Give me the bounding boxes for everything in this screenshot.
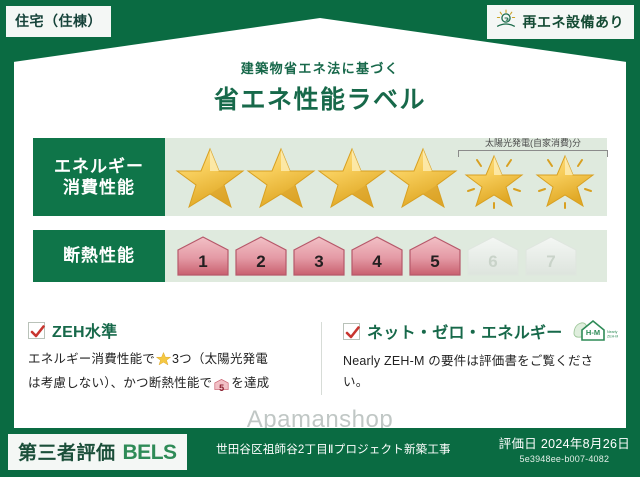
net-zero-energy-body: Nearly ZEH-M の要件は評価書をご覧ください。 [343,351,600,392]
insulation-level-7-number: 7 [523,252,579,272]
title-block: 建築物省エネ法に基づく 省エネ性能ラベル [0,58,640,116]
insulation-level-7: 7 [523,234,579,278]
svg-text:ZEH-M: ZEH-M [607,335,618,339]
label-root: 住宅（住棟） 再エネ設備あり 建築物省エネ法に基づく 省エネ性能ラベル [0,0,640,477]
star-6-solar [530,144,600,210]
insulation-level-6-number: 6 [465,252,521,272]
net-zero-energy-title: ネット・ゼロ・エネルギー [367,319,563,343]
star-rating [165,144,600,210]
inline-house-number: 5 [214,381,229,396]
star-1 [175,144,245,210]
renewable-badge-label: 再エネ設備あり [523,12,625,32]
bels-certification-badge: 第三者評価 BELS [8,434,187,470]
insulation-level-3: 3 [291,234,347,278]
star-3 [317,144,387,210]
bels-en-label: BELS [123,441,177,465]
svg-text:H-M: H-M [586,328,600,337]
bels-jp-label: 第三者評価 [18,438,116,465]
star-5-solar [459,144,529,210]
energy-label-line2: 消費性能 [63,177,135,198]
check-icon [28,322,45,339]
insulation-level-6: 6 [465,234,521,278]
zeh-standard-panel: ZEH水準 エネルギー消費性能で3つ（太陽光発電 は考慮しない）、かつ断熱性能で… [28,318,321,397]
insulation-level-4: 4 [349,234,405,278]
inline-house-icon: 5 [214,377,229,398]
evaluation-date: 評価日 2024年8月26日 [499,433,630,452]
insulation-level-5-number: 5 [407,252,463,272]
project-name: 世田谷区祖師谷2丁目Ⅱプロジェクト新築工事 [216,441,451,457]
energy-performance-row: エネルギー 消費性能 [33,138,607,216]
title-subtitle: 建築物省エネ法に基づく [0,58,640,77]
evaluation-info: 評価日 2024年8月26日 5e3948ee-b007-4082 [499,433,630,464]
net-zero-energy-panel: ネット・ゼロ・エネルギー H-M Nearly ZEH-M Nearly ZEH… [321,318,614,397]
svg-text:Nearly: Nearly [607,330,618,334]
zeh-body-part2: は考慮しない）、かつ断熱性能で [28,376,212,390]
star-2 [246,144,316,210]
category-tag: 住宅（住棟） [6,6,111,37]
evaluation-id: 5e3948ee-b007-4082 [499,454,630,464]
energy-performance-label: エネルギー 消費性能 [33,138,165,216]
insulation-level-2-number: 2 [233,252,289,272]
insulation-level-3-number: 3 [291,252,347,272]
rating-rows: エネルギー 消費性能 [33,138,607,282]
renewable-energy-badge: 再エネ設備あり [487,5,635,39]
zeh-standard-title: ZEH水準 [52,318,118,342]
zeh-body-star-text: 3つ（太陽光発電 [172,352,268,366]
insulation-performance-label: 断熱性能 [33,230,165,282]
footer: 第三者評価 BELS 世田谷区祖師谷2丁目Ⅱプロジェクト新築工事 評価日 202… [0,428,640,477]
insulation-scale-area: 1 2 3 [165,230,607,282]
nearly-zeh-m-logo-icon: H-M Nearly ZEH-M [572,318,618,344]
insulation-level-2: 2 [233,234,289,278]
insulation-performance-row: 断熱性能 [33,230,607,282]
insulation-scale: 1 2 3 [165,234,579,278]
inline-star-icon [156,355,171,369]
zeh-body-part3: を達成 [231,376,269,390]
page-title: 省エネ性能ラベル [0,80,640,116]
star-4 [388,144,458,210]
insulation-level-1-number: 1 [175,252,231,272]
energy-label-line1: エネルギー [54,156,144,177]
zeh-body-part1: エネルギー消費性能で [28,352,155,366]
zeh-standard-heading: ZEH水準 [28,318,307,342]
check-icon [343,323,360,340]
insulation-level-5: 5 [407,234,463,278]
insulation-label-text: 断熱性能 [63,245,135,266]
insulation-level-4-number: 4 [349,252,405,272]
energy-stars-area: 太陽光発電(自家消費)分 [165,138,607,216]
net-zero-energy-heading: ネット・ゼロ・エネルギー H-M Nearly ZEH-M [343,318,600,344]
sun-icon [495,9,517,34]
insulation-level-1: 1 [175,234,231,278]
bottom-panels: ZEH水準 エネルギー消費性能で3つ（太陽光発電 は考慮しない）、かつ断熱性能で… [28,318,614,397]
zeh-standard-body: エネルギー消費性能で3つ（太陽光発電 は考慮しない）、かつ断熱性能で5を達成 [28,349,307,397]
